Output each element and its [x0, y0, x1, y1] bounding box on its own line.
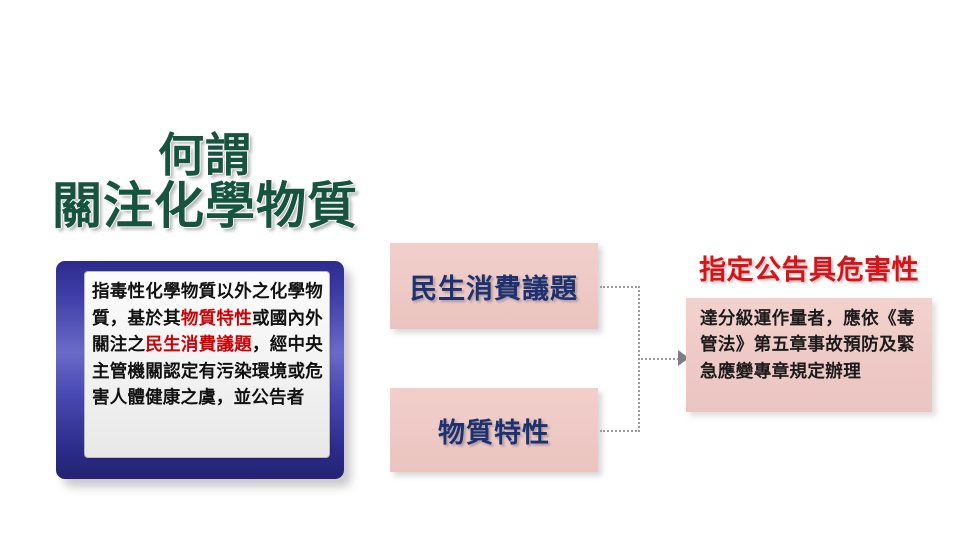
definition-text: 指毒性化學物質以外之化學物質，基於其物質特性或國內外關注之民生消費議題，經中央主…: [92, 279, 323, 412]
definition-highlight: 民生消費議題: [145, 335, 252, 355]
definition-panel: 指毒性化學物質以外之化學物質，基於其物質特性或國內外關注之民生消費議題，經中央主…: [84, 271, 330, 458]
connector-line-top: [600, 286, 640, 288]
connector-line-bottom: [600, 430, 640, 432]
definition-highlight: 物質特性: [181, 309, 252, 329]
title-line-1: 何謂: [40, 132, 370, 179]
factor-label: 物質特性: [438, 411, 550, 450]
outcome-text: 達分級運作量者，應依《毒管法》第五章事故預防及緊急應變專章規定辦理: [700, 306, 920, 385]
connector-line-arrow: [638, 358, 682, 360]
factor-box-consumer-issues[interactable]: 民生消費議題: [390, 243, 598, 329]
definition-card: 指毒性化學物質以外之化學物質，基於其物質特性或國內外關注之民生消費議題，經中央主…: [56, 261, 344, 479]
title-line-2: 關注化學物質: [40, 181, 370, 232]
outcome-heading: 指定公告具危害性: [665, 248, 953, 287]
outcome-box[interactable]: 達分級運作量者，應依《毒管法》第五章事故預防及緊急應變專章規定辦理: [686, 298, 932, 412]
factor-box-substance-properties[interactable]: 物質特性: [390, 388, 598, 472]
slide-title: 何謂 關注化學物質: [40, 132, 370, 232]
factor-label: 民生消費議題: [410, 267, 578, 306]
slide-canvas: 何謂 關注化學物質 指毒性化學物質以外之化學物質，基於其物質特性或國內外關注之民…: [0, 0, 960, 540]
